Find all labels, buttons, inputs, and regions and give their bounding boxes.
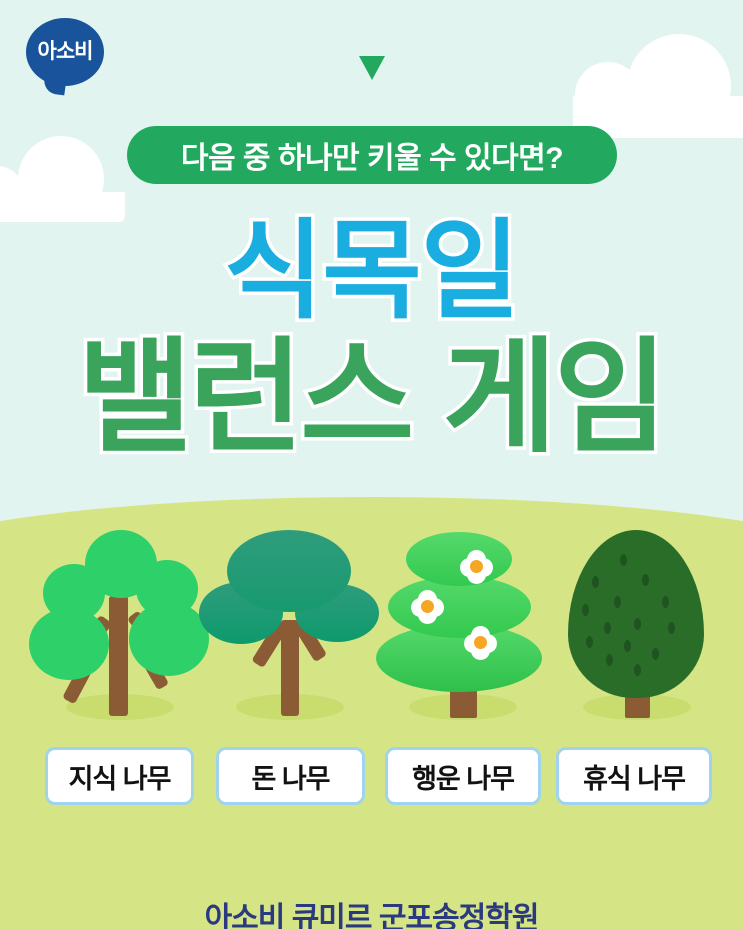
foliage-speckle: [582, 604, 589, 616]
tree-foliage-body: [568, 530, 704, 698]
foliage-speckle: [634, 618, 641, 630]
brand-logo[interactable]: 아소비: [26, 18, 108, 96]
flower-center: [421, 600, 434, 613]
foliage-speckle: [668, 622, 675, 634]
foliage-speckle: [662, 596, 669, 608]
tree-knowledge[interactable]: [35, 528, 205, 728]
foliage-speckle: [634, 664, 641, 676]
tree-trunk: [109, 596, 128, 716]
footer: 아소비 큐미르 군포송정학원: [0, 893, 743, 929]
foliage-speckle: [606, 654, 613, 666]
tree-label-text: 지식 나무: [69, 757, 171, 796]
flower-icon: [464, 626, 498, 660]
poster-canvas: 아소비 다음 중 하나만 키울 수 있다면? 식목일 밸런스 게임: [0, 0, 743, 929]
logo-text: 아소비: [38, 41, 93, 64]
foliage-speckle: [592, 576, 599, 588]
tree-foliage-blob: [227, 530, 351, 612]
flower-center: [470, 560, 483, 573]
tree-label-rest[interactable]: 휴식 나무: [556, 747, 712, 805]
foliage-speckle: [604, 622, 611, 634]
tree-label-luck[interactable]: 행운 나무: [385, 747, 541, 805]
flower-icon: [460, 550, 494, 584]
tree-label-text: 휴식 나무: [583, 757, 685, 796]
logo-bubble: 아소비: [26, 18, 104, 86]
tree-luck[interactable]: [378, 528, 548, 728]
question-banner-tail: [359, 56, 385, 80]
tree-rest[interactable]: [552, 528, 722, 728]
tree-label-knowledge[interactable]: 지식 나무: [45, 747, 194, 805]
tree-label-text: 돈 나무: [251, 757, 329, 796]
foliage-speckle: [652, 648, 659, 660]
foliage-speckle: [614, 596, 621, 608]
headline-line-1: 식목일: [0, 217, 743, 325]
flower-center: [474, 636, 487, 649]
tree-label-money[interactable]: 돈 나무: [216, 747, 365, 805]
tree-label-text: 행운 나무: [412, 757, 514, 796]
tree-money[interactable]: [205, 528, 375, 728]
tree-foliage-tier: [406, 532, 512, 586]
flower-icon: [411, 590, 445, 624]
question-banner-text: 다음 중 하나만 키울 수 있다면?: [181, 133, 563, 177]
footer-text: 아소비 큐미르 군포송정학원: [205, 902, 539, 929]
headline-line-2: 밸런스 게임: [0, 336, 743, 460]
tree-foliage-blob: [85, 530, 157, 598]
question-banner: 다음 중 하나만 키울 수 있다면?: [127, 126, 617, 184]
foliage-speckle: [620, 554, 627, 566]
foliage-speckle: [642, 574, 649, 586]
foliage-speckle: [624, 640, 631, 652]
foliage-speckle: [586, 636, 593, 648]
